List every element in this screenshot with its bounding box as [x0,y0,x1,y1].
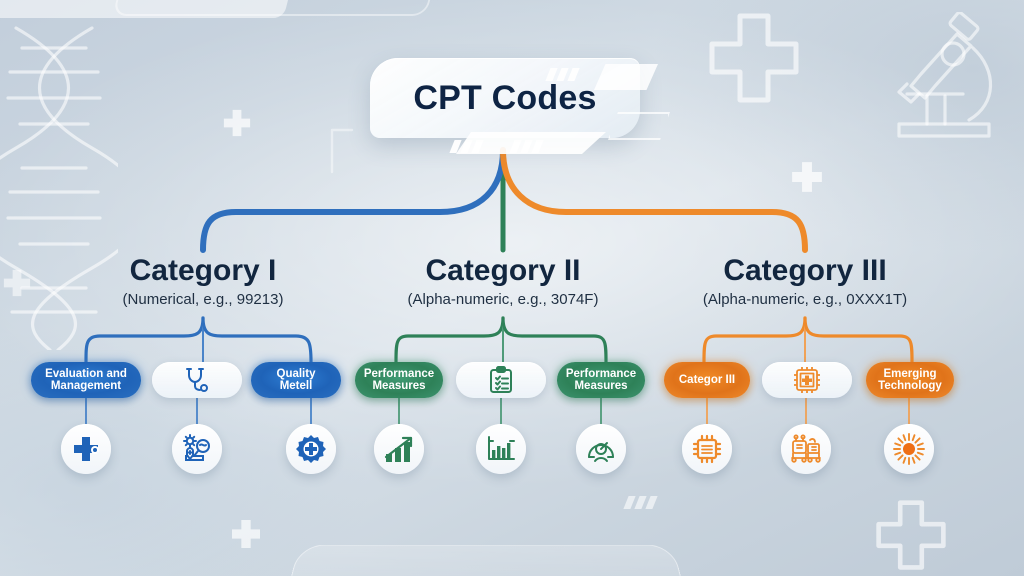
node-pill-stethoscope[interactable] [152,362,242,398]
title-card: CPT Codes [370,58,640,138]
node-pill-label: Quality Metell [277,368,316,393]
medical-cross-watermark-a [706,10,802,106]
node-pill-quality-metell[interactable]: Quality Metell [251,362,341,398]
category-3-heading-block: Category III (Alpha-numeric, e.g., 0XXX1… [640,255,970,308]
node-pill-label: Emerging Technology [878,368,942,393]
category-2-subtitle: (Alpha-numeric, e.g., 3074F) [338,291,668,308]
robot-machine-icon [790,434,822,464]
infographic-canvas: CPT Codes Category I (Numerical, e.g., 9… [0,0,1024,576]
category-1-subtitle: (Numerical, e.g., 99213) [38,291,368,308]
gear-cross-icon [296,434,326,464]
node-pill-label: Performance Measures [364,368,434,393]
title-deco-slab-outline [608,112,670,140]
category-1-heading-block: Category I (Numerical, e.g., 99213) [38,255,368,308]
category-3-subtitle: (Alpha-numeric, e.g., 0XXX1T) [640,291,970,308]
hud-stripes-bottom [626,496,655,509]
circle-sun-burst-icon[interactable] [884,424,934,474]
stethoscope-icon [183,367,211,393]
category-2-heading-block: Category II (Alpha-numeric, e.g., 3074F) [338,255,668,308]
hud-panel-bottom [280,545,693,576]
circle-microchip-icon[interactable] [682,424,732,474]
growth-chart-icon [384,435,414,463]
title-deco-tail [456,132,606,154]
hud-bracket-watermark [330,128,370,174]
microscope-watermark [885,12,1005,142]
node-pill-categor-iii[interactable]: Categor III [664,362,750,398]
chip-cross-icon [793,366,821,394]
circle-gear-cross-icon[interactable] [286,424,336,474]
circle-growth-chart-icon[interactable] [374,424,424,474]
clipboard-check-icon [488,366,514,394]
node-pill-performance-measures-2[interactable]: Performance Measures [557,362,645,398]
circle-robot-machine-icon[interactable] [781,424,831,474]
node-pill-label: Performance Measures [566,368,636,393]
category-3-heading: Category III [640,255,970,287]
node-pill-performance-measures-1[interactable]: Performance Measures [355,362,443,398]
medical-cross-watermark-c [222,108,252,138]
title-deco-slab [594,64,658,90]
node-pill-chip-cross[interactable] [762,362,852,398]
page-title: CPT Codes [413,79,596,118]
medical-cross-watermark-b [790,160,824,194]
node-pill-evaluation-management[interactable]: Evaluation and Management [31,362,141,398]
category-2-heading: Category II [338,255,668,287]
microchip-icon [692,434,722,464]
sun-burst-icon [893,433,925,465]
medical-cross-watermark-d [230,518,262,550]
circle-gear-magnifier-icon[interactable] [172,424,222,474]
gear-magnifier-icon [181,434,213,464]
hud-panel-top-outline [112,0,437,16]
medical-cross-watermark-f [2,268,32,298]
hud-panel-top-left [0,0,296,18]
node-pill-label: Categor III [679,374,735,386]
node-pill-emerging-technology[interactable]: Emerging Technology [866,362,954,398]
bar-chart-icon [485,435,517,463]
circle-medical-cross-icon[interactable] [61,424,111,474]
gauge-meter-icon [586,435,616,463]
circle-gauge-meter-icon[interactable] [576,424,626,474]
circle-bar-chart-icon[interactable] [476,424,526,474]
medical-cross-watermark-e [874,498,948,572]
category-1-heading: Category I [38,255,368,287]
medical-cross-icon [71,434,101,464]
node-pill-label: Evaluation and Management [45,368,127,393]
node-pill-clipboard[interactable] [456,362,546,398]
